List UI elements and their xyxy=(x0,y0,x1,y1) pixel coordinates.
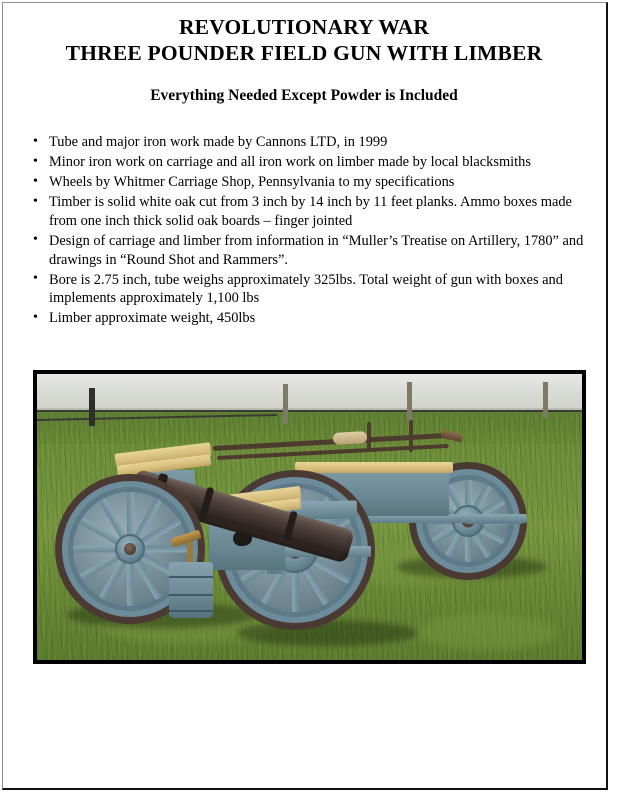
cannon-photograph xyxy=(33,370,586,664)
fence-post xyxy=(543,382,548,418)
implement-upright xyxy=(409,420,413,452)
grass-patch xyxy=(417,614,557,650)
fence-rail xyxy=(37,410,582,412)
fence-post xyxy=(89,388,95,426)
photo-scene xyxy=(37,374,582,660)
list-item: Wheels by Whitmer Carriage Shop, Pennsyl… xyxy=(32,173,592,192)
page-title: REVOLUTIONARY WAR THREE POUNDER FIELD GU… xyxy=(4,14,604,66)
document-page: REVOLUTIONARY WAR THREE POUNDER FIELD GU… xyxy=(0,0,624,800)
list-item: Tube and major iron work made by Cannons… xyxy=(32,133,592,152)
fence-post xyxy=(407,382,412,422)
list-item: Bore is 2.75 inch, tube weighs approxima… xyxy=(32,271,592,308)
title-line-1: REVOLUTIONARY WAR xyxy=(4,14,604,40)
bucket-band xyxy=(169,610,213,612)
implement-upright xyxy=(367,422,371,452)
fence-post xyxy=(283,384,288,424)
rammer-head xyxy=(333,431,368,445)
bucket-band xyxy=(169,576,213,578)
list-item: Limber approximate weight, 450lbs xyxy=(32,309,592,328)
title-line-2: THREE POUNDER FIELD GUN WITH LIMBER xyxy=(4,40,604,66)
specifications-list: Tube and major iron work made by Cannons… xyxy=(32,133,592,329)
subtitle: Everything Needed Except Powder is Inclu… xyxy=(4,86,604,105)
pavement-background xyxy=(37,374,582,412)
list-item: Timber is solid white oak cut from 3 inc… xyxy=(32,193,592,230)
list-item: Minor iron work on carriage and all iron… xyxy=(32,153,592,172)
bucket-band xyxy=(169,594,213,596)
list-item: Design of carriage and limber from infor… xyxy=(32,232,592,269)
wheel-hub-cap xyxy=(124,543,136,555)
limber-chest-lid xyxy=(295,462,453,473)
